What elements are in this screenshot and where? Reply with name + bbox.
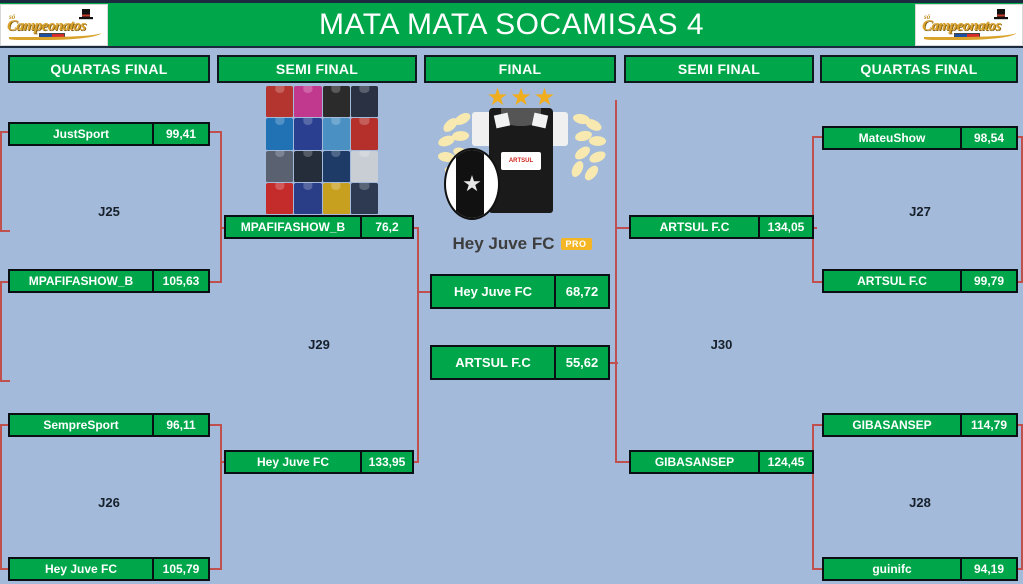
jersey-thumb — [294, 86, 321, 117]
jersey-thumb — [266, 183, 293, 214]
club-crest-icon: ★ — [444, 148, 500, 220]
team-name: Hey Juve FC — [10, 559, 154, 579]
connector — [615, 227, 617, 462]
connector — [0, 380, 10, 382]
match-j28-team-top[interactable]: GIBASANSEP 114,79 — [822, 413, 1018, 437]
match-label-j28: J28 — [822, 495, 1018, 510]
collar-wing-right — [532, 113, 548, 129]
logo-swoosh — [9, 28, 101, 40]
collar-wing-left — [494, 113, 510, 129]
crest-star-icon: ★ — [462, 173, 482, 195]
team-score: 76,2 — [362, 217, 412, 237]
team-name: ARTSUL F.C — [432, 347, 556, 378]
champion-name-row: Hey Juve FC PRO — [432, 234, 612, 254]
jersey-collage — [266, 86, 378, 214]
team-name: GIBASANSEP — [824, 415, 962, 435]
match-j25-team-bottom[interactable]: MPAFIFASHOW_B 105,63 — [8, 269, 210, 293]
team-name: MateuShow — [824, 128, 962, 148]
team-score: 134,05 — [760, 217, 812, 237]
jersey-thumb — [323, 118, 350, 149]
jersey-thumb — [294, 183, 321, 214]
match-label-j25: J25 — [8, 204, 210, 219]
match-j27-team-top[interactable]: MateuShow 98,54 — [822, 126, 1018, 150]
team-score: 99,41 — [154, 124, 208, 144]
champion-stars: ★★★ — [432, 86, 612, 110]
logo-swoosh — [924, 28, 1016, 40]
team-name: JustSport — [10, 124, 154, 144]
round-header-semi-left: SEMI FINAL — [217, 55, 417, 83]
connector — [0, 131, 2, 231]
jersey-thumb — [351, 118, 378, 149]
connector — [220, 131, 222, 282]
team-name: GIBASANSEP — [631, 452, 760, 472]
team-name: Hey Juve FC — [226, 452, 362, 472]
team-score: 94,19 — [962, 559, 1016, 579]
connector — [0, 230, 10, 232]
team-score: 98,54 — [962, 128, 1016, 148]
jersey-thumb — [351, 183, 378, 214]
team-score: 124,45 — [760, 452, 812, 472]
champion-shirt-icon: ARTSUL — [489, 108, 553, 213]
jersey-thumb — [266, 151, 293, 182]
match-j29-team-bottom[interactable]: Hey Juve FC 133,95 — [224, 450, 414, 474]
match-label-j26: J26 — [8, 495, 210, 510]
team-name: guinifc — [824, 559, 962, 579]
brand-logo-left: só Campeonatos — [0, 4, 108, 46]
connector — [615, 227, 629, 229]
champion-pro-badge: PRO — [561, 238, 592, 250]
team-name: Hey Juve FC — [432, 276, 556, 307]
team-name: MPAFIFASHOW_B — [226, 217, 362, 237]
connector — [615, 461, 629, 463]
match-j28-team-bottom[interactable]: guinifc 94,19 — [822, 557, 1018, 581]
team-score: 114,79 — [962, 415, 1016, 435]
connector — [0, 281, 2, 381]
champion-display: ★★★ ARTSUL ★ Hey Juve FC PRO — [432, 86, 612, 256]
match-label-j30: J30 — [629, 337, 814, 352]
jersey-thumb — [351, 86, 378, 117]
connector — [220, 424, 222, 569]
connector — [812, 136, 814, 281]
connector — [210, 281, 222, 283]
team-score: 133,95 — [362, 452, 412, 472]
team-name: SempreSport — [10, 415, 154, 435]
round-header-semi-right: SEMI FINAL — [624, 55, 814, 83]
match-j27-team-bottom[interactable]: ARTSUL F.C 99,79 — [822, 269, 1018, 293]
team-name: ARTSUL F.C — [824, 271, 962, 291]
match-j25-team-top[interactable]: JustSport 99,41 — [8, 122, 210, 146]
team-name: MPAFIFASHOW_B — [10, 271, 154, 291]
jersey-thumb — [294, 151, 321, 182]
round-header-quartas-right: QUARTAS FINAL — [820, 55, 1018, 83]
jersey-thumb — [266, 118, 293, 149]
round-header-quartas-left: QUARTAS FINAL — [8, 55, 210, 83]
shirt-sponsor-patch: ARTSUL — [501, 152, 541, 170]
connector — [210, 568, 222, 570]
page-title: MATA MATA SOCAMISAS 4 — [108, 8, 915, 42]
round-header-row: QUARTAS FINAL SEMI FINAL FINAL SEMI FINA… — [0, 55, 1023, 85]
champion-name-label: Hey Juve FC — [452, 234, 554, 254]
match-final-team-top[interactable]: Hey Juve FC 68,72 — [430, 274, 610, 309]
jersey-thumb — [351, 151, 378, 182]
match-label-j29: J29 — [224, 337, 414, 352]
match-label-j27: J27 — [822, 204, 1018, 219]
brand-logo-right: só Campeonatos — [915, 4, 1023, 46]
jersey-thumb — [323, 183, 350, 214]
connector — [417, 227, 419, 462]
top-hat-icon — [994, 9, 1008, 20]
team-name: ARTSUL F.C — [631, 217, 760, 237]
match-j26-team-top[interactable]: SempreSport 96,11 — [8, 413, 210, 437]
match-j29-team-top[interactable]: MPAFIFASHOW_B 76,2 — [224, 215, 414, 239]
top-hat-icon — [79, 9, 93, 20]
jersey-thumb — [294, 118, 321, 149]
round-header-final: FINAL — [424, 55, 616, 83]
match-j26-team-bottom[interactable]: Hey Juve FC 105,79 — [8, 557, 210, 581]
team-score: 99,79 — [962, 271, 1016, 291]
jersey-thumb — [323, 86, 350, 117]
match-final-team-bottom[interactable]: ARTSUL F.C 55,62 — [430, 345, 610, 380]
team-score: 105,79 — [154, 559, 208, 579]
jersey-thumb — [266, 86, 293, 117]
team-score: 55,62 — [556, 347, 608, 378]
connector — [0, 424, 2, 569]
team-score: 96,11 — [154, 415, 208, 435]
connector — [615, 100, 617, 230]
match-j30-team-bottom[interactable]: GIBASANSEP 124,45 — [629, 450, 814, 474]
jersey-thumb — [323, 151, 350, 182]
team-score: 68,72 — [556, 276, 608, 307]
connector — [812, 424, 814, 569]
team-score: 105,63 — [154, 271, 208, 291]
match-j30-team-top[interactable]: ARTSUL F.C 134,05 — [629, 215, 814, 239]
app-header: só Campeonatos MATA MATA SOCAMISAS 4 só … — [0, 0, 1023, 48]
